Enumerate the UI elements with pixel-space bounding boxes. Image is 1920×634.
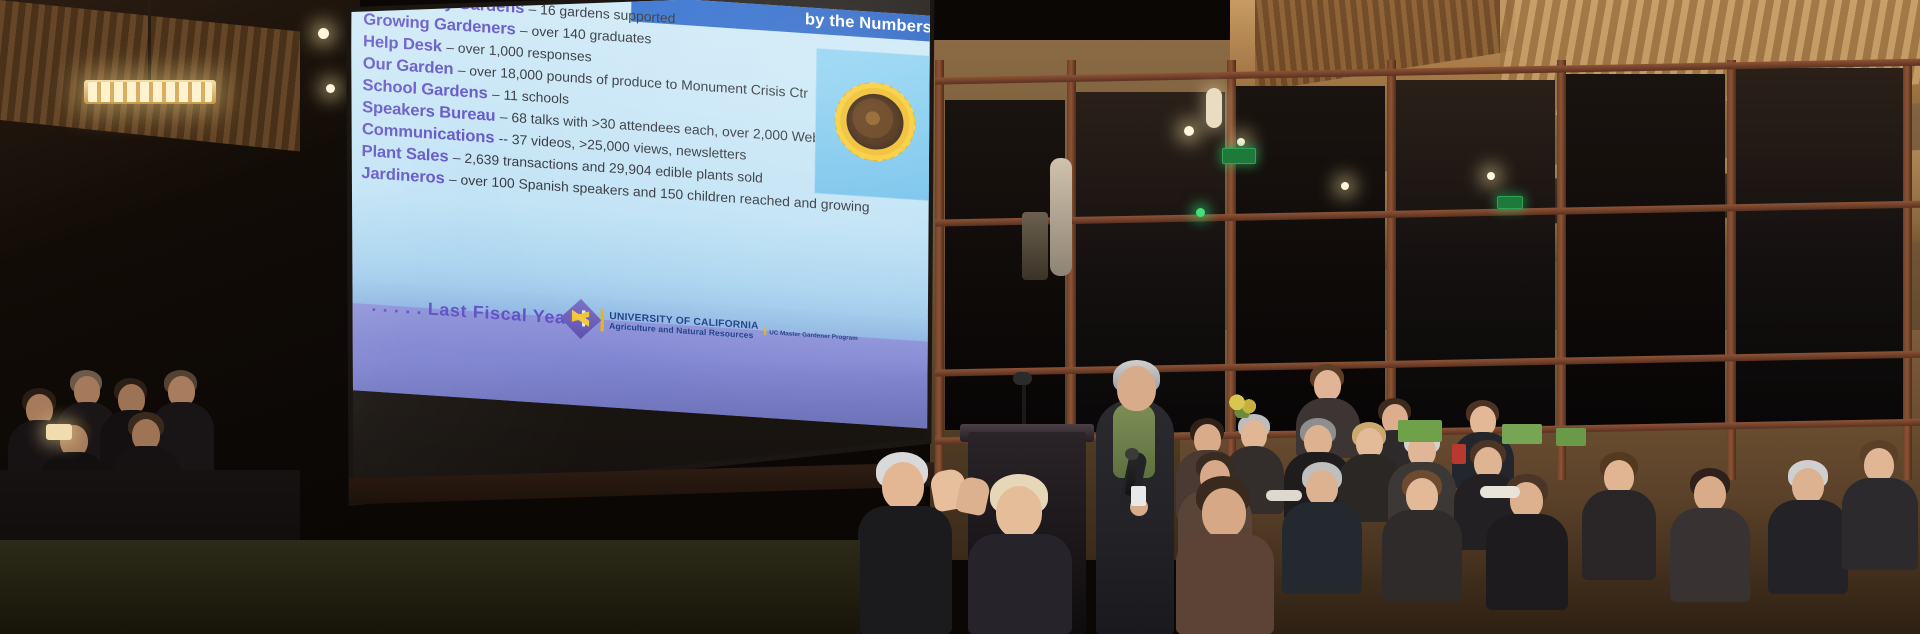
table-item-green-box <box>1398 420 1442 442</box>
floor-foreground <box>0 540 860 634</box>
bullet-label: Help Desk <box>363 32 442 55</box>
podium-microphone-head <box>1013 372 1032 385</box>
bullet-text: – over 1,000 responses <box>446 40 592 65</box>
table-item-flowers <box>1228 392 1258 418</box>
logo-program-group: UC Master Gardener Program <box>764 327 858 342</box>
table-item-red-cup <box>1452 444 1466 464</box>
pendant-rod <box>148 0 151 82</box>
ceiling-spotlight <box>1237 138 1245 146</box>
powerpoint-slide: by the Numbers Master Gardener – over 8,… <box>346 0 947 430</box>
table-item-green-box <box>1556 428 1586 446</box>
bullet-text: – over 140 graduates <box>520 23 652 47</box>
sunflower-photo <box>814 48 935 201</box>
green-indicator-light <box>1196 208 1205 217</box>
logo-gold-bar-small <box>764 327 766 335</box>
bullet-text: – 11 schools <box>492 87 569 107</box>
projection-screen: by the Numbers Master Gardener – over 8,… <box>330 0 950 506</box>
wall-panel <box>1022 212 1048 280</box>
table-item-white-plate <box>1480 486 1520 498</box>
table-item-white-plate <box>1266 490 1302 501</box>
bullet-label: Plant Sales <box>361 142 448 166</box>
presenter-name-badge <box>1131 486 1146 506</box>
bullet-label: Our Garden <box>363 54 454 78</box>
table-lamp-left <box>46 424 72 440</box>
ceiling-spotlight <box>1341 182 1349 190</box>
ceiling-spotlight <box>1487 172 1495 180</box>
bullet-text: – 16 gardens supported <box>528 2 675 27</box>
exit-sign <box>1222 148 1256 164</box>
wall-speaker-panel <box>1050 158 1072 276</box>
bullet-label: Jardineros <box>361 164 445 188</box>
handheld-microphone-head <box>1125 448 1139 460</box>
presentation-room-photo: by the Numbers Master Gardener – over 8,… <box>0 0 1920 634</box>
pendant-light-fixture <box>84 80 216 104</box>
presenter-head <box>1117 366 1156 411</box>
exit-sign <box>1497 196 1523 209</box>
ceiling-spotlight <box>1184 126 1194 136</box>
logo-line-program: UC Master Gardener Program <box>769 329 858 342</box>
ceiling-spotlight <box>318 28 329 39</box>
ceiling-spotlight <box>326 84 335 93</box>
table-item-green-box <box>1502 424 1542 444</box>
wall-sconce <box>1206 88 1222 128</box>
window-wall <box>935 60 1920 480</box>
